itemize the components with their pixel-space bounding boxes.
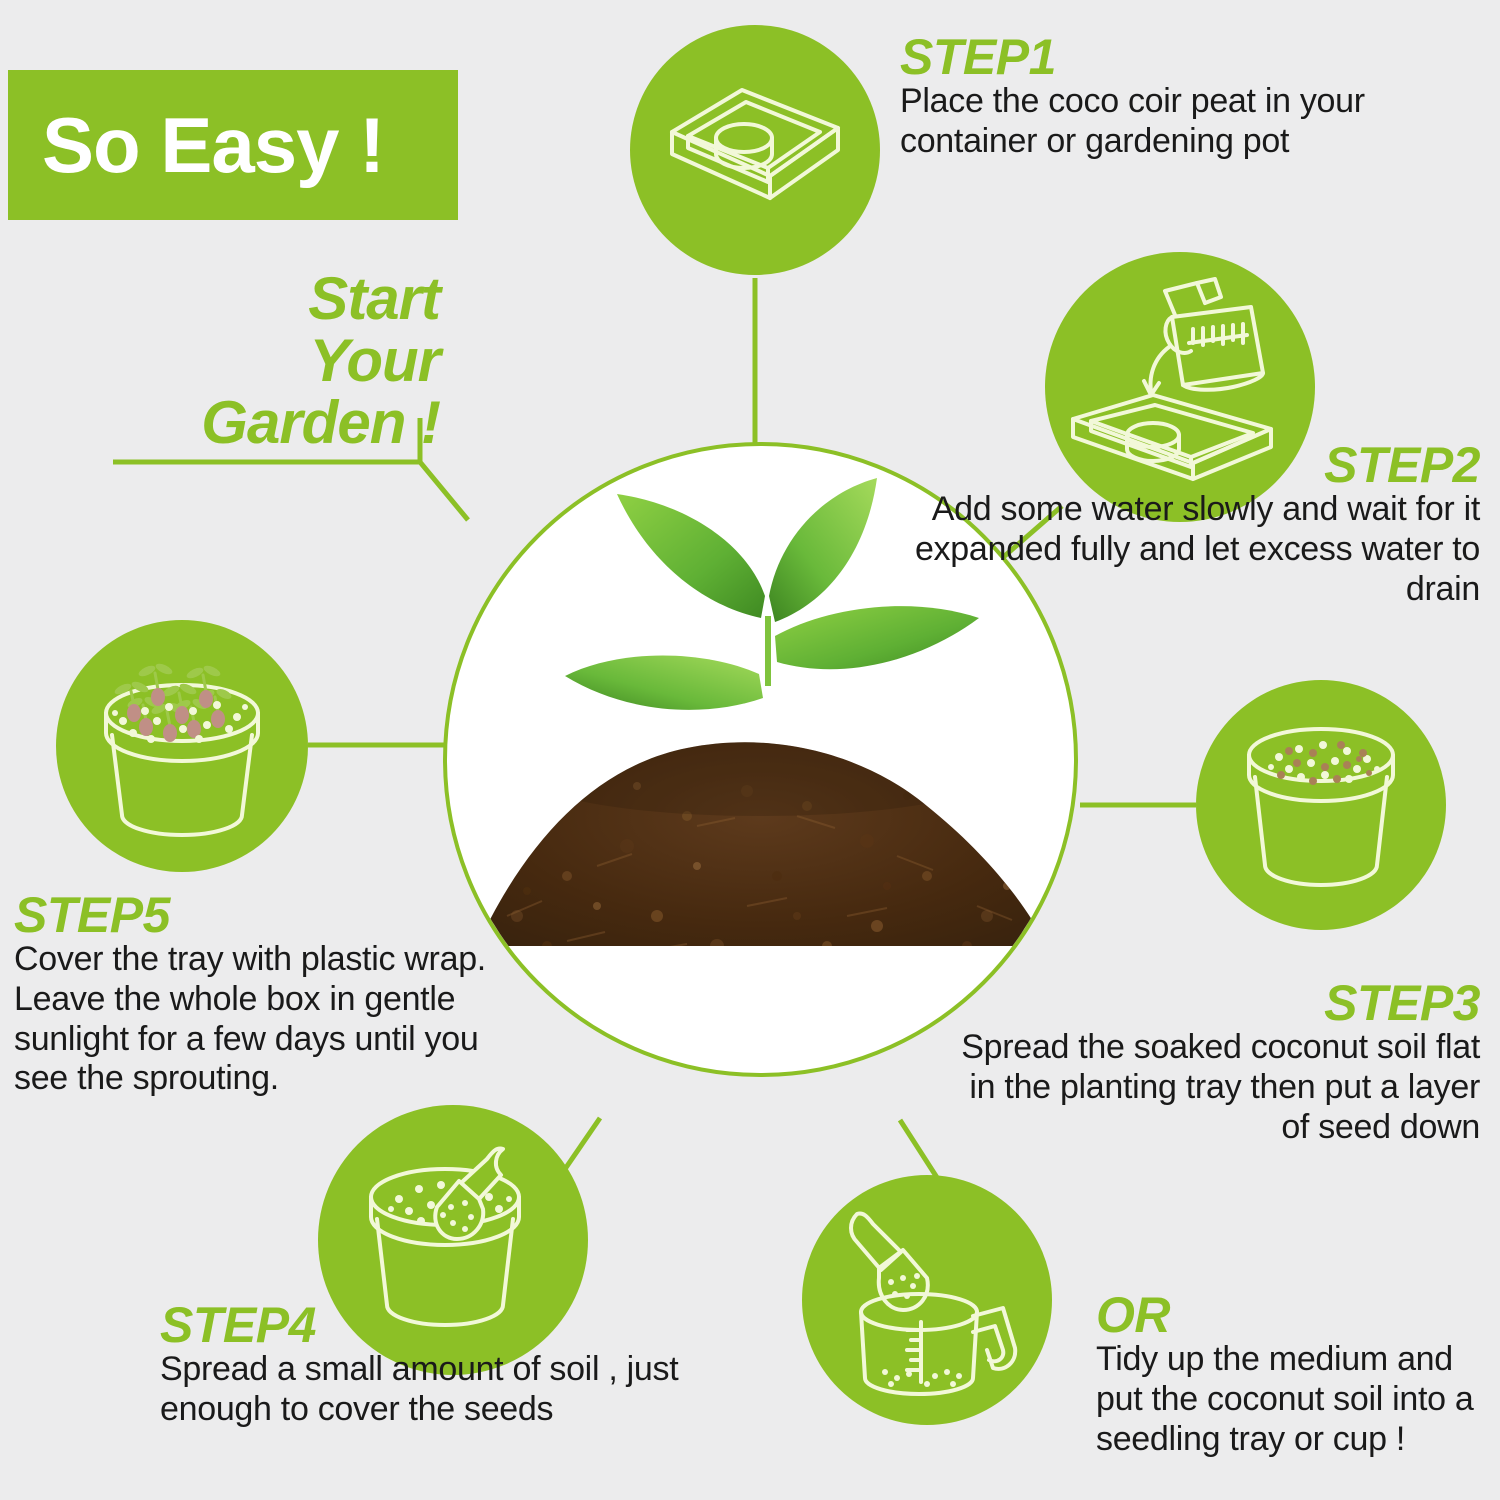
headline-connector-line xyxy=(113,462,468,520)
step3-label: STEP3 xyxy=(940,978,1480,1028)
step2-label: STEP2 xyxy=(900,440,1480,490)
leaf-midrib xyxy=(765,616,771,686)
tray-with-coir-puck-icon xyxy=(660,70,850,230)
step5-text-block: STEP5 Cover the tray with plastic wrap. … xyxy=(14,890,514,1099)
or-text-block: OR Tidy up the medium and put the coconu… xyxy=(1096,1290,1496,1459)
leaf-upper-right xyxy=(769,478,877,622)
step4-label: STEP4 xyxy=(160,1300,680,1350)
infographic-root: So Easy ! Start Your Garden ! xyxy=(0,0,1500,1500)
step1-label: STEP1 xyxy=(900,32,1420,82)
or-body: Tidy up the medium and put the coconut s… xyxy=(1096,1340,1496,1459)
soil-mound xyxy=(447,726,1074,986)
step3-icon-circle xyxy=(1196,680,1446,930)
step3-body: Spread the soaked coconut soil flat in t… xyxy=(940,1028,1480,1147)
leaf-right xyxy=(775,606,979,669)
sprout-group xyxy=(112,662,248,743)
or-label: OR xyxy=(1096,1290,1496,1340)
so-easy-banner-text: So Easy ! xyxy=(42,106,384,184)
step4-text-block: STEP4 Spread a small amount of soil , ju… xyxy=(160,1300,680,1430)
start-your-garden-headline: Start Your Garden ! xyxy=(120,268,440,453)
step5-icon-circle xyxy=(56,620,308,872)
step1-text-block: STEP1 Place the coco coir peat in your c… xyxy=(900,32,1420,162)
step2-text-block: STEP2 Add some water slowly and wait for… xyxy=(900,440,1480,609)
step5-body: Cover the tray with plastic wrap. Leave … xyxy=(14,940,514,1099)
step5-label: STEP5 xyxy=(14,890,514,940)
so-easy-banner: So Easy ! xyxy=(8,70,458,220)
step4-body: Spread a small amount of soil , just eno… xyxy=(160,1350,680,1430)
headline-line-2: Your xyxy=(120,330,440,392)
step2-body: Add some water slowly and wait for it ex… xyxy=(900,490,1480,609)
leaf-left xyxy=(565,656,763,710)
pot-with-sprouting-seedlings-icon xyxy=(87,651,277,841)
headline-line-3: Garden ! xyxy=(120,392,440,454)
seed-casings xyxy=(127,688,225,742)
step3-text-block: STEP3 Spread the soaked coconut soil fla… xyxy=(940,978,1480,1147)
headline-line-1: Start xyxy=(120,268,440,330)
step1-body: Place the coco coir peat in your contain… xyxy=(900,82,1420,162)
leaf-upper-left xyxy=(617,494,765,618)
step1-icon-circle xyxy=(630,25,880,275)
or-icon-circle xyxy=(802,1175,1052,1425)
trowel-pouring-soil-into-measuring-cup-icon xyxy=(827,1200,1027,1400)
pot-with-seeds-icon xyxy=(1231,715,1411,895)
